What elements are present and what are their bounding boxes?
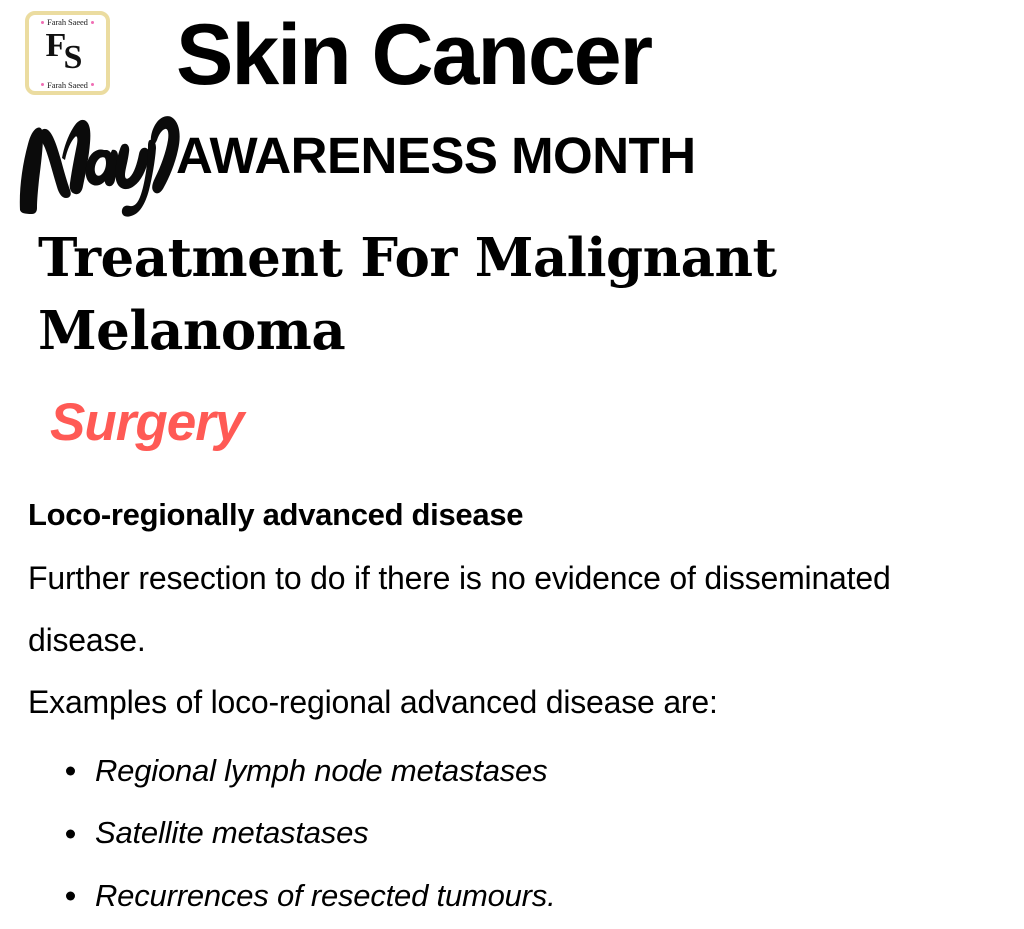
content-heading: Loco-regionally advanced disease — [28, 495, 988, 535]
farah-saeed-logo: Farah Saeed F S Farah Saeed — [25, 11, 110, 95]
treatment-modality-label: Surgery — [50, 396, 243, 449]
content-body: Loco-regionally advanced disease Further… — [28, 495, 988, 928]
examples-list: Regional lymph node metastases Satellite… — [28, 740, 988, 928]
logo-top-caption: Farah Saeed — [41, 18, 94, 27]
logo-bottom-caption: Farah Saeed — [41, 81, 94, 90]
page-subtitle: AWARENESS MONTH — [176, 130, 696, 181]
may-script-word — [12, 92, 197, 217]
list-item: Recurrences of resected tumours. — [28, 865, 988, 928]
page-title: Skin Cancer — [176, 12, 651, 100]
diamond-dot-icon — [41, 21, 44, 24]
logo-monogram: F S — [42, 31, 94, 77]
monogram-letter-s: S — [64, 41, 83, 75]
logo-brand-name-top: Farah Saeed — [47, 18, 88, 27]
list-item: Satellite metastases — [28, 802, 988, 865]
diamond-dot-icon — [91, 83, 94, 86]
list-item: Regional lymph node metastases — [28, 740, 988, 803]
logo-brand-name-bottom: Farah Saeed — [47, 81, 88, 90]
content-paragraph: Further resection to do if there is no e… — [28, 547, 908, 672]
section-title: Treatment For Malignant Melanoma — [38, 222, 798, 368]
diamond-dot-icon — [91, 21, 94, 24]
content-lead-in: Examples of loco-regional advanced disea… — [28, 671, 988, 733]
diamond-dot-icon — [41, 83, 44, 86]
